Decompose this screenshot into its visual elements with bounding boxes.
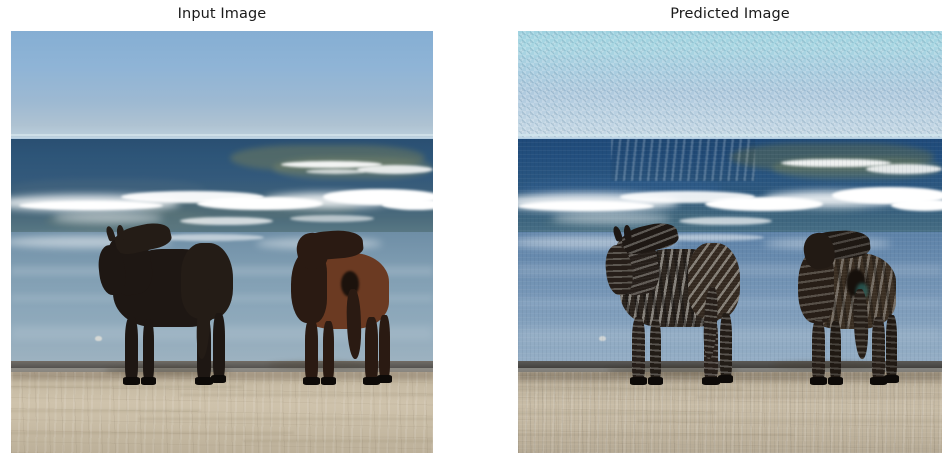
input-sky bbox=[11, 31, 433, 138]
predicted-sky bbox=[518, 31, 942, 138]
input-animal-dark-horse bbox=[85, 221, 235, 386]
input-animal-bay-horse bbox=[283, 227, 399, 385]
predicted-image bbox=[518, 31, 942, 453]
predicted-animal-zebra-left bbox=[592, 221, 742, 386]
predicted-animal-zebra-right bbox=[790, 227, 906, 385]
checkerboard-artifact-dots bbox=[518, 31, 942, 138]
figure-canvas: Input Image bbox=[0, 0, 950, 465]
input-horizon-haze bbox=[11, 134, 433, 136]
panel-input-title: Input Image bbox=[11, 0, 433, 28]
panel-predicted: Predicted Image bbox=[518, 0, 942, 465]
panel-input: Input Image bbox=[11, 0, 433, 465]
input-image bbox=[11, 31, 433, 453]
panel-predicted-title: Predicted Image bbox=[518, 0, 942, 28]
zebra-stripes-leg bbox=[632, 317, 645, 381]
predicted-horizon-haze bbox=[518, 134, 942, 136]
